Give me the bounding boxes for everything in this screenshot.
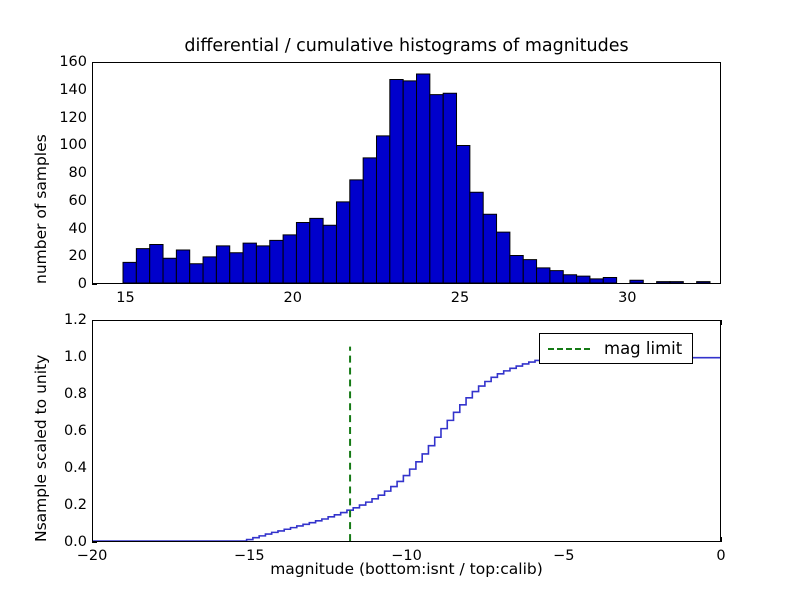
bottom-ytick-6: 1.2 [64,312,92,328]
histogram-bar [443,93,456,283]
histogram-bar [283,235,296,283]
top-ytick-7: 140 [59,82,92,98]
mag-limit-line-swatch [548,348,590,350]
legend-box: mag limit [539,333,693,364]
histogram-bar [697,282,710,283]
histogram-bar [417,74,430,283]
histogram-bar [497,232,510,283]
histogram-bar [483,214,496,283]
histogram-bar [577,276,590,283]
histogram-bar [363,158,376,283]
legend-label-mag-limit: mag limit [604,339,682,358]
histogram-bar [310,218,323,283]
figure-xlabel: magnitude (bottom:isnt / top:calib) [92,560,721,578]
top-xtick-3: 30 [618,290,636,306]
top-xtick-2: 25 [451,290,469,306]
top-ytick-5: 100 [59,137,92,153]
top-ytick-6: 120 [59,110,92,126]
histogram-bar [163,258,176,283]
top-ytick-8: 160 [59,54,92,70]
histogram-bar [630,280,643,283]
histogram-bar [523,260,536,283]
top-ytick-1: 20 [69,248,92,264]
histogram-bar [603,278,616,284]
page-title: differential / cumulative histograms of … [92,36,721,56]
histogram-bar [457,146,470,284]
histogram-bar [537,268,550,283]
histogram-bar [336,202,349,283]
histogram-bar [190,264,203,283]
histogram-bar [136,249,149,283]
histogram-bar [243,243,256,283]
top-panel-plot-surface [93,63,720,283]
histogram-bars [93,63,720,283]
top-ytick-0: 0 [78,276,92,292]
top-ytick-2: 40 [69,221,92,237]
histogram-bar [403,81,416,283]
histogram-bar [350,180,363,283]
histogram-bar [256,246,269,283]
top-ytick-3: 60 [69,193,92,209]
histogram-bar [657,282,670,283]
histogram-bar [510,256,523,284]
bottom-ytick-4: 0.8 [64,386,92,402]
top-panel-ylabel: number of samples [32,134,50,284]
bottom-ytick-3: 0.6 [64,423,92,439]
histogram-bar [216,246,229,283]
top-panel-axes [92,62,721,284]
histogram-bar [563,275,576,283]
histogram-bar [376,136,389,283]
histogram-bar [270,240,283,283]
histogram-bar [296,223,309,284]
histogram-bar [670,282,683,283]
histogram-bar [550,271,563,283]
top-ytick-4: 80 [69,165,92,181]
cumulative-step-line [93,358,720,541]
top-xtick-1: 20 [284,290,302,306]
histogram-bar [590,279,603,283]
bottom-ytick-2: 0.4 [64,460,92,476]
histogram-bar [230,253,243,283]
histogram-bar [323,225,336,283]
histogram-bar [150,245,163,284]
histogram-bar [203,257,216,283]
top-xtick-0: 15 [116,290,134,306]
histogram-bar [430,95,443,283]
histogram-bar [390,80,403,284]
bottom-panel-axes: mag limit [92,320,721,542]
bottom-panel-ylabel: Nsample scaled to unity [32,355,50,542]
figure-canvas: differential / cumulative histograms of … [0,0,800,600]
bottom-ytick-5: 1.0 [64,349,92,365]
histogram-bar [176,250,189,283]
histogram-bar [470,192,483,283]
histogram-bar [123,262,136,283]
bottom-ytick-1: 0.2 [64,497,92,513]
